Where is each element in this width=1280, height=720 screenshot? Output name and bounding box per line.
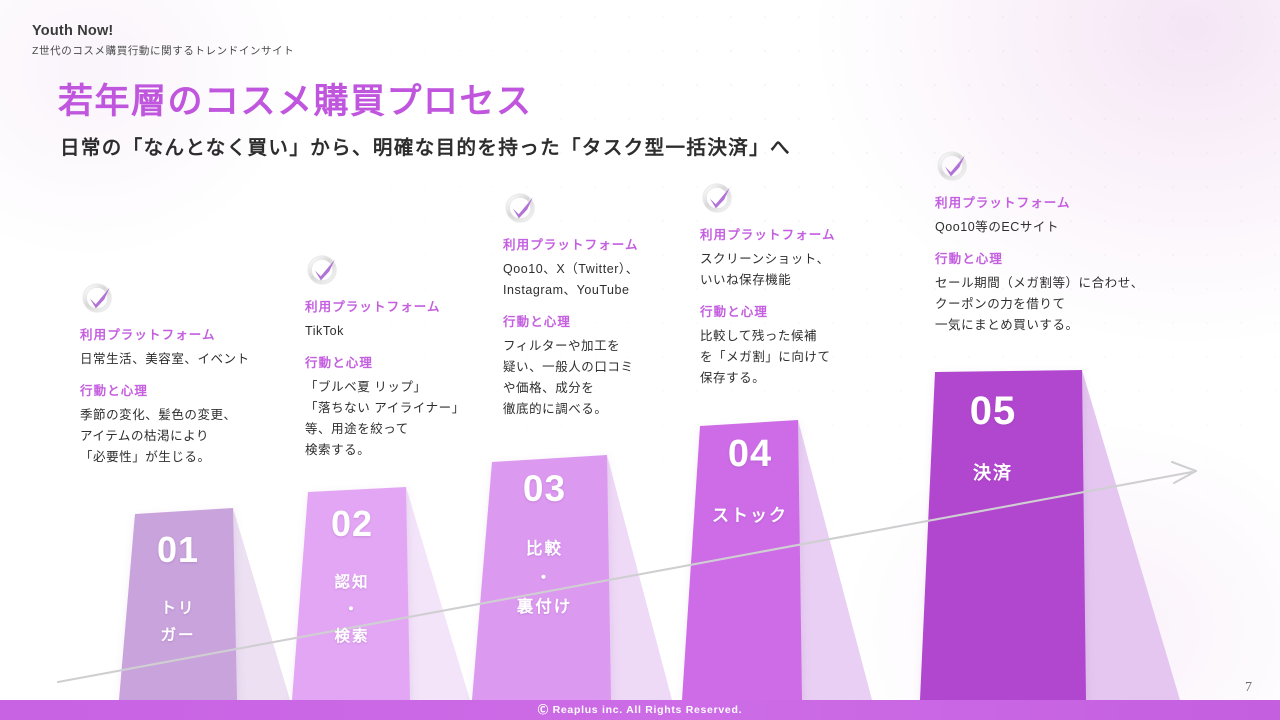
step-block-01: 利用プラットフォーム日常生活、美容室、イベント行動と心理季節の変化、髪色の変更、…	[80, 280, 285, 468]
check-circle-icon	[80, 280, 116, 316]
bar-number-04: 04	[700, 435, 800, 475]
bar-stage-05: 決済	[938, 458, 1048, 490]
bar-number-01: 01	[128, 531, 228, 569]
step-block-05: 利用プラットフォームQoo10等のECサイト行動と心理セール期間（メガ割等）に合…	[935, 148, 1185, 336]
platform-label-03: 利用プラットフォーム	[503, 237, 703, 254]
platform-value-03: Qoo10、X（Twitter）、Instagram、YouTube	[503, 259, 703, 301]
behavior-value-04: 比較して残った候補を「メガ割」に向けて保存する。	[700, 326, 890, 389]
footer-bar: Ⓒ Reaplus inc. All Rights Reserved.	[0, 700, 1280, 720]
platform-label-02: 利用プラットフォーム	[305, 299, 500, 316]
platform-label-01: 利用プラットフォーム	[80, 327, 285, 344]
behavior-value-01: 季節の変化、髪色の変更、アイテムの枯渇により「必要性」が生じる。	[80, 405, 285, 468]
check-circle-icon	[700, 180, 736, 216]
check-circle-icon	[935, 148, 971, 184]
check-circle-icon	[503, 190, 539, 226]
slide-root: Youth Now! Z世代のコスメ購買行動に関するトレンドインサイト 若年層の…	[0, 0, 1280, 720]
platform-value-04: スクリーンショット、いいね保存機能	[700, 249, 890, 291]
step-block-04: 利用プラットフォームスクリーンショット、いいね保存機能行動と心理比較して残った候…	[700, 180, 890, 389]
platform-value-05: Qoo10等のECサイト	[935, 217, 1185, 238]
bar-number-03: 03	[492, 470, 597, 509]
copyright-text: Ⓒ Reaplus inc. All Rights Reserved.	[0, 700, 1280, 720]
behavior-value-03: フィルターや加工を疑い、一般人の口コミや価格、成分を徹底的に調べる。	[503, 336, 703, 420]
behavior-label-05: 行動と心理	[935, 251, 1185, 268]
behavior-label-01: 行動と心理	[80, 383, 285, 400]
page-number: 7	[1245, 680, 1252, 696]
bar-caption-01: 01トリガー	[128, 531, 228, 649]
platform-value-01: 日常生活、美容室、イベント	[80, 349, 285, 370]
bar-stage-03: 比較・裏付け	[492, 535, 597, 622]
bar-caption-04: 04ストック	[700, 435, 800, 531]
behavior-value-02: 「ブルベ夏 リップ」「落ちない アイライナー」等、用途を絞って検索する。	[305, 377, 500, 461]
platform-value-02: TikTok	[305, 321, 500, 342]
step-block-03: 利用プラットフォームQoo10、X（Twitter）、Instagram、You…	[503, 190, 703, 420]
bar-stage-01: トリガー	[128, 595, 228, 649]
bar-caption-05: 05決済	[938, 390, 1048, 490]
bar-stage-02: 認知・検索	[302, 569, 402, 650]
bar-number-05: 05	[938, 390, 1048, 432]
behavior-value-05: セール期間（メガ割等）に合わせ、クーポンの力を借りて一気にまとめ買いする。	[935, 273, 1185, 336]
behavior-label-02: 行動と心理	[305, 355, 500, 372]
bar-number-02: 02	[302, 505, 402, 543]
bar-caption-02: 02認知・検索	[302, 505, 402, 650]
platform-label-04: 利用プラットフォーム	[700, 227, 890, 244]
platform-label-05: 利用プラットフォーム	[935, 195, 1185, 212]
behavior-label-03: 行動と心理	[503, 314, 703, 331]
bar-caption-03: 03比較・裏付け	[492, 470, 597, 621]
bar-stage-04: ストック	[700, 501, 800, 531]
behavior-label-04: 行動と心理	[700, 304, 890, 321]
step-block-02: 利用プラットフォームTikTok行動と心理「ブルベ夏 リップ」「落ちない アイラ…	[305, 252, 500, 461]
check-circle-icon	[305, 252, 341, 288]
